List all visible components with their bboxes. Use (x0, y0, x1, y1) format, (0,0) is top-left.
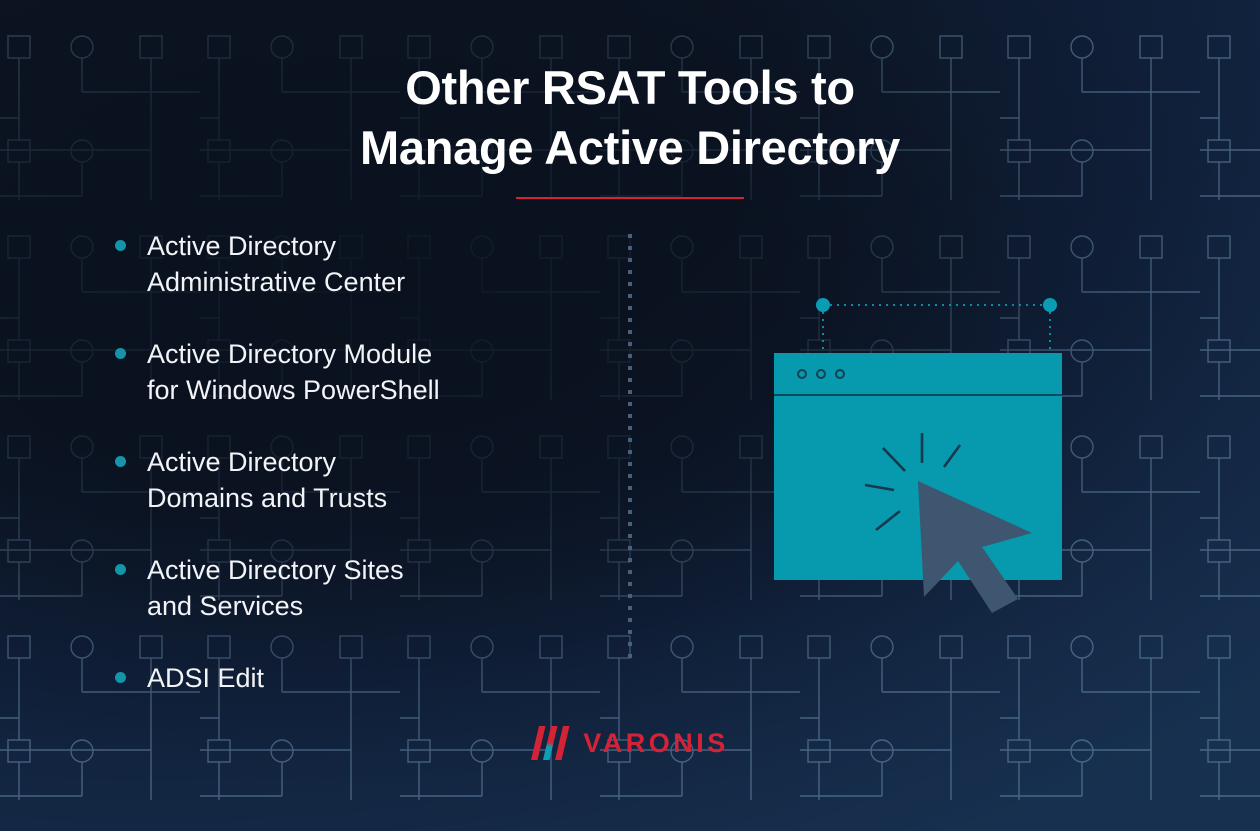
title-line-1: Other RSAT Tools to (0, 58, 1260, 118)
list-item-label: Active Directory Administrative Center (147, 231, 405, 297)
list-item: ADSI Edit (112, 660, 562, 696)
list-item-label: Active Directory Domains and Trusts (147, 447, 387, 513)
slide-canvas: Other RSAT Tools to Manage Active Direct… (0, 0, 1260, 831)
list-item-label: ADSI Edit (147, 663, 264, 693)
title-underline-rule (516, 197, 744, 199)
page-title: Other RSAT Tools to Manage Active Direct… (0, 58, 1260, 178)
bullet-dot-icon (115, 456, 126, 467)
list-item: Active Directory Sites and Services (112, 552, 562, 624)
tools-list: Active Directory Administrative Center A… (112, 228, 562, 696)
varonis-logo: VARONIS (0, 726, 1260, 765)
title-line-2: Manage Active Directory (0, 118, 1260, 178)
browser-window-click-illustration (760, 285, 1140, 615)
list-item: Active Directory Administrative Center (112, 228, 562, 300)
bullet-dot-icon (115, 672, 126, 683)
list-item-label: Active Directory Module for Windows Powe… (147, 339, 440, 405)
list-item-label: Active Directory Sites and Services (147, 555, 404, 621)
browser-window-body (774, 353, 1062, 580)
brand-wordmark: VARONIS (583, 728, 729, 759)
varonis-slashes-mark (531, 726, 571, 760)
node-dot (1043, 298, 1057, 312)
vertical-dotted-divider (628, 234, 632, 666)
bullet-dot-icon (115, 240, 126, 251)
list-item: Active Directory Domains and Trusts (112, 444, 562, 516)
bullet-dot-icon (115, 564, 126, 575)
node-dot (816, 298, 830, 312)
list-item: Active Directory Module for Windows Powe… (112, 336, 562, 408)
bullet-dot-icon (115, 348, 126, 359)
